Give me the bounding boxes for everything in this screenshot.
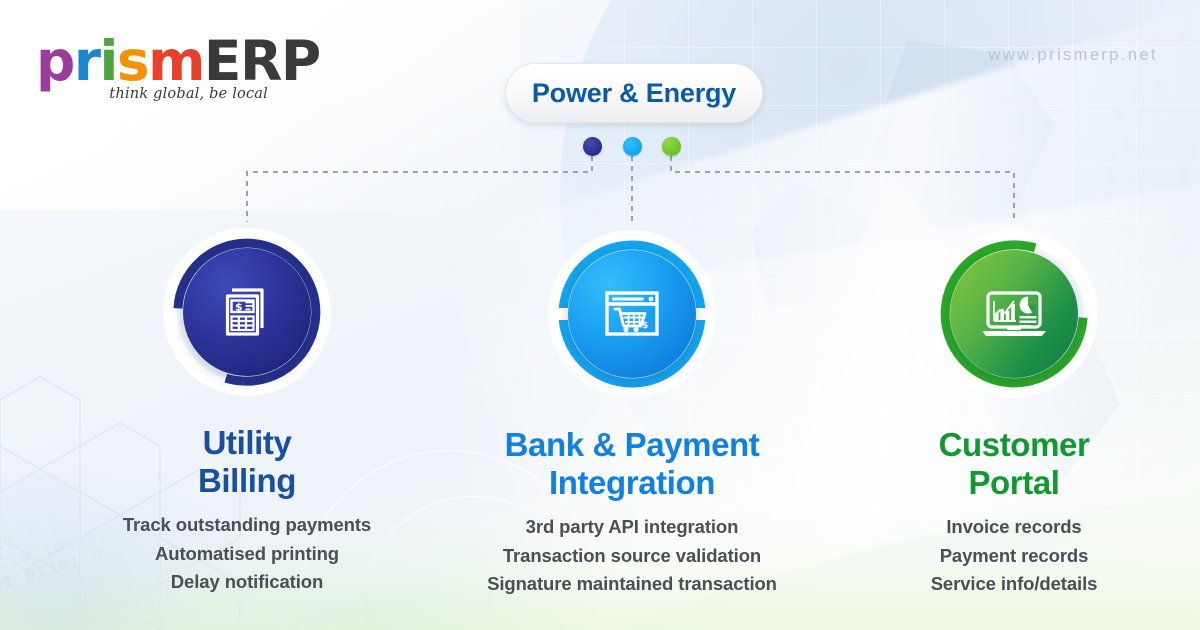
- logo-tagline: think global, be local: [109, 86, 268, 102]
- card-utility-billing[interactable]: $ Utility Billing Track outstanding paym…: [82, 222, 412, 597]
- card-bank-payment-integration[interactable]: $ Bank & Payment Integration 3rd party A…: [467, 224, 797, 599]
- card-title: Bank & Payment Integration: [467, 426, 797, 502]
- category-pill-label: Power & Energy: [532, 78, 736, 109]
- card-icon-wrap: $: [542, 224, 722, 404]
- logo-letter-p: p: [36, 29, 74, 93]
- category-pill[interactable]: Power & Energy: [505, 63, 763, 123]
- card-bullets: Invoice records Payment records Service …: [849, 513, 1179, 599]
- prismerp-logo: prismERP think global, be local: [36, 32, 266, 108]
- icon-disc: [950, 250, 1078, 378]
- card-bullet: Delay notification: [82, 568, 412, 597]
- logo-letter-s: s: [117, 29, 148, 93]
- card-title: Utility Billing: [82, 424, 412, 500]
- card-title-line2: Portal: [849, 464, 1179, 502]
- svg-text:$: $: [235, 301, 243, 314]
- card-bullet: Payment records: [849, 542, 1179, 571]
- online-shopping-cart-icon: $: [595, 277, 669, 351]
- card-customer-portal[interactable]: Customer Portal Invoice records Payment …: [849, 224, 1179, 599]
- card-title-line2: Billing: [82, 462, 412, 500]
- website-url: www.prismerp.net: [988, 46, 1158, 65]
- dot-green: [662, 137, 681, 156]
- dot-navy: [583, 137, 602, 156]
- logo-letter-m: m: [148, 29, 204, 93]
- card-bullet: Track outstanding payments: [82, 511, 412, 540]
- icon-disc: $: [183, 248, 311, 376]
- card-bullets: 3rd party API integration Transaction so…: [467, 513, 797, 599]
- card-title-line1: Bank & Payment: [467, 426, 797, 464]
- card-icon-wrap: [924, 224, 1104, 404]
- dot-blue: [623, 137, 642, 156]
- icon-disc: $: [568, 250, 696, 378]
- logo-letter-i: i: [100, 29, 117, 93]
- logo-letter-r: r: [74, 29, 100, 93]
- laptop-analytics-icon: [976, 276, 1052, 352]
- card-bullet: Automatised printing: [82, 540, 412, 569]
- card-bullet: Service info/details: [849, 570, 1179, 599]
- card-title: Customer Portal: [849, 426, 1179, 502]
- invoice-documents-icon: $: [212, 277, 282, 347]
- card-bullet: Invoice records: [849, 513, 1179, 542]
- card-icon-wrap: $: [157, 222, 337, 402]
- card-bullet: 3rd party API integration: [467, 513, 797, 542]
- svg-text:$: $: [642, 321, 648, 331]
- card-title-line2: Integration: [467, 464, 797, 502]
- card-bullet: Transaction source validation: [467, 542, 797, 571]
- logo-wordmark: prismERP: [36, 32, 266, 90]
- card-bullet: Signature maintained transaction: [467, 570, 797, 599]
- logo-letters-erp: ERP: [204, 29, 320, 93]
- card-bullets: Track outstanding payments Automatised p…: [82, 511, 412, 597]
- card-title-line1: Customer: [849, 426, 1179, 464]
- card-title-line1: Utility: [82, 424, 412, 462]
